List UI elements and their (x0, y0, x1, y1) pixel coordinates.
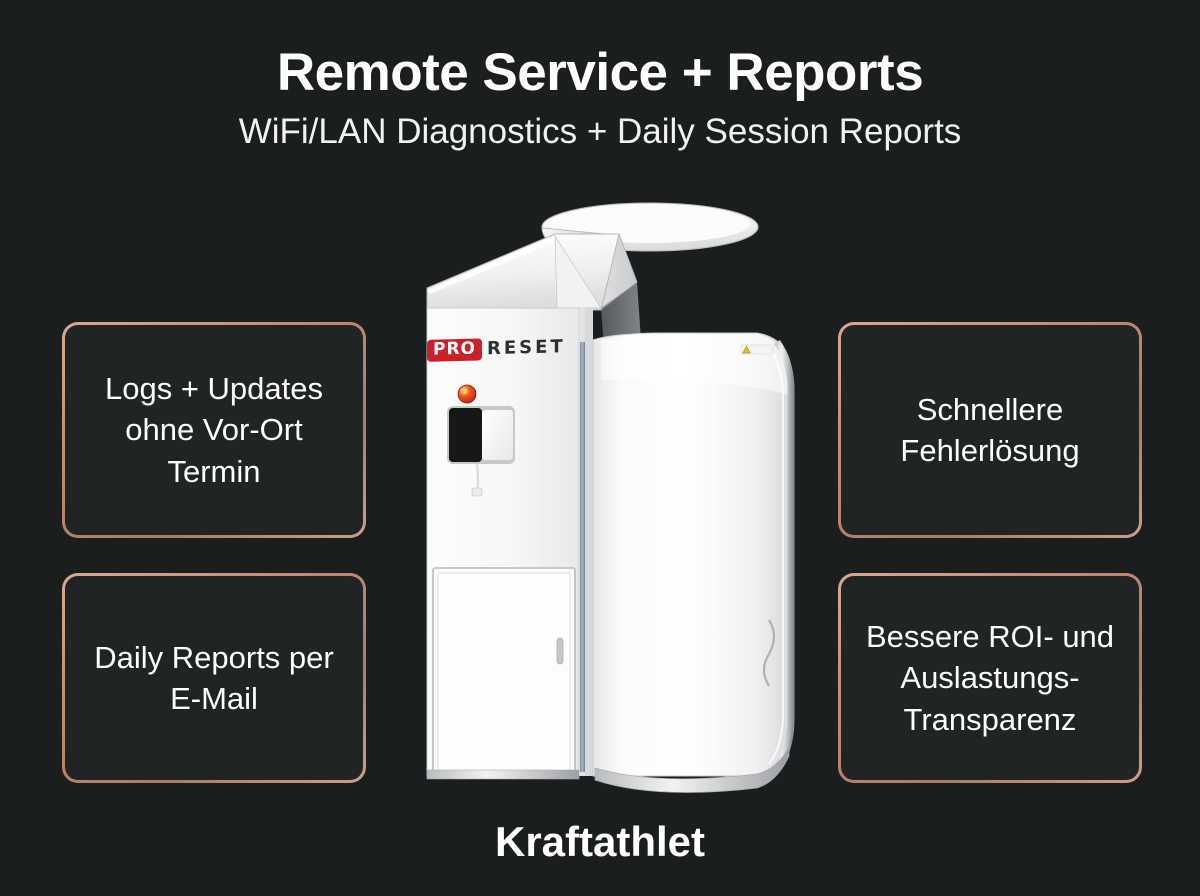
product-logo: PRO RESET (427, 336, 566, 362)
feature-card-top-right[interactable]: Schnellere Fehlerlösung (838, 322, 1142, 538)
product-image: PRO RESET (405, 190, 815, 805)
cabin-cylinder (593, 333, 791, 776)
door-handle (557, 638, 563, 664)
warning-sticker (741, 345, 773, 354)
feature-card-top-left[interactable]: Logs + Updates ohne Vor-Ort Termin (62, 322, 366, 538)
header: Remote Service + Reports WiFi/LAN Diagno… (0, 0, 1200, 153)
feature-card-bottom-left[interactable]: Daily Reports per E-Mail (62, 573, 366, 783)
product-illustration (405, 190, 815, 805)
brand-word: RESET (487, 338, 566, 358)
display-dark-half (449, 408, 482, 462)
emergency-stop-button (458, 385, 476, 403)
feature-card-bottom-right[interactable]: Bessere ROI- und Auslastungs-Transparenz (838, 573, 1142, 783)
feature-card-top-right-text: Schnellere Fehlerlösung (855, 389, 1125, 471)
product-name-label: Kraftathlet (0, 818, 1200, 866)
feature-card-bottom-right-text: Bessere ROI- und Auslastungs-Transparenz (855, 616, 1125, 740)
slide-root: Remote Service + Reports WiFi/LAN Diagno… (0, 0, 1200, 896)
cable (477, 464, 478, 490)
page-title: Remote Service + Reports (0, 44, 1200, 101)
feature-card-top-left-text: Logs + Updates ohne Vor-Ort Termin (79, 368, 349, 492)
display-screen (482, 410, 513, 460)
brand-badge: PRO (427, 338, 482, 361)
page-subtitle: WiFi/LAN Diagnostics + Daily Session Rep… (0, 111, 1200, 153)
door-seam (580, 342, 585, 772)
feature-card-bottom-left-text: Daily Reports per E-Mail (79, 637, 349, 719)
